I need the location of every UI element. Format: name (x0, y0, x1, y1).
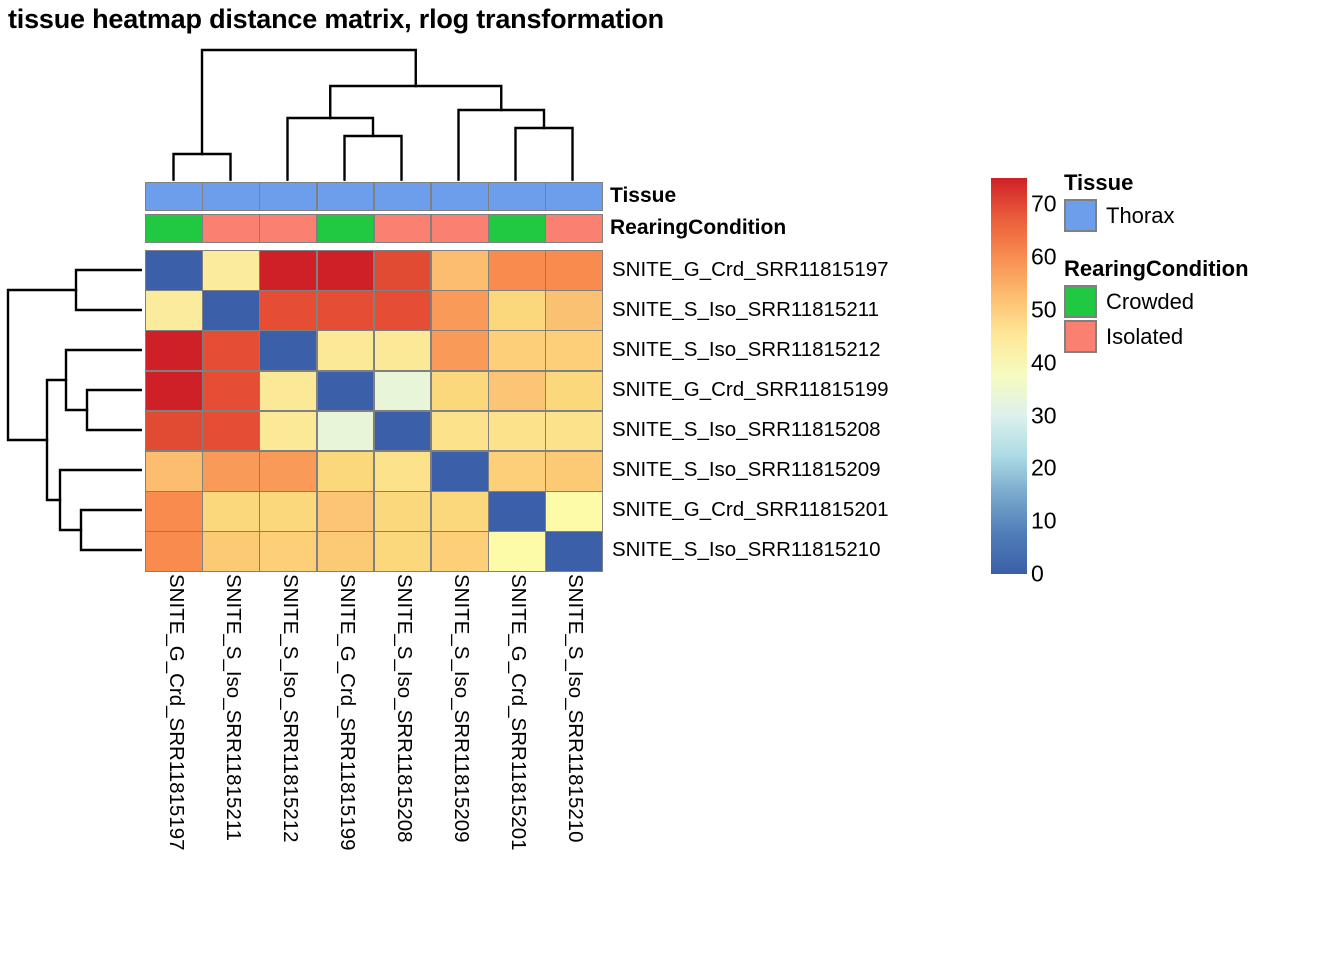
row-label: SNITE_S_Iso_SRR11815208 (612, 410, 1012, 450)
heatmap-cell (146, 251, 202, 290)
annotation-cell-rearingcondition (432, 215, 488, 242)
heatmap-cell (318, 291, 374, 330)
column-label-text: SNITE_S_Iso_SRR11815212 (277, 574, 301, 843)
row-label: SNITE_S_Iso_SRR11815211 (612, 290, 1012, 330)
heatmap-cell (375, 251, 431, 290)
annotation-cell-tissue (318, 183, 374, 210)
column-label: SNITE_S_Iso_SRR11815208 (373, 574, 430, 954)
column-label-text: SNITE_S_Iso_SRR11815209 (448, 574, 472, 843)
annotation-label-tissue: Tissue (610, 182, 676, 209)
legend-rearingcondition-label: Isolated (1106, 324, 1183, 350)
heatmap-cell (203, 291, 259, 330)
legend-title-rearingcondition: RearingCondition (1064, 256, 1344, 282)
column-label-list: SNITE_G_Crd_SRR11815197SNITE_S_Iso_SRR11… (145, 574, 601, 954)
heatmap-cell (489, 412, 545, 451)
column-label: SNITE_S_Iso_SRR11815209 (430, 574, 487, 954)
heatmap-cell (146, 331, 202, 370)
heatmap-cell (146, 412, 202, 451)
heatmap-cell (318, 372, 374, 411)
legend-rearingcondition-swatch (1064, 320, 1097, 353)
column-label: SNITE_G_Crd_SRR11815197 (145, 574, 202, 954)
heatmap-cell (546, 331, 602, 370)
heatmap-cell (432, 291, 488, 330)
heatmap-cell (318, 492, 374, 531)
heatmap-cell (375, 492, 431, 531)
colorbar-tick-label: 10 (1031, 508, 1057, 535)
column-label: SNITE_G_Crd_SRR11815199 (316, 574, 373, 954)
heatmap-cell (546, 251, 602, 290)
legend-items-tissue: Thorax (1064, 199, 1344, 232)
column-label-text: SNITE_G_Crd_SRR11815199 (334, 574, 358, 851)
column-label: SNITE_G_Crd_SRR11815201 (487, 574, 544, 954)
heatmap-cell (318, 532, 374, 571)
heatmap-cell (203, 412, 259, 451)
row-label-list: SNITE_G_Crd_SRR11815197SNITE_S_Iso_SRR11… (612, 250, 1012, 570)
heatmap-cell (260, 372, 316, 411)
annotation-label-rearingcondition: RearingCondition (610, 214, 786, 241)
heatmap-cell (146, 372, 202, 411)
annotation-cell-tissue (546, 183, 602, 210)
colorbar (991, 178, 1027, 574)
heatmap-grid (145, 250, 603, 572)
heatmap-cell (203, 452, 259, 491)
colorbar-tick-label: 60 (1031, 244, 1057, 271)
heatmap-cell (375, 412, 431, 451)
annotation-cell-tissue (203, 183, 259, 210)
annotation-cell-rearingcondition (489, 215, 545, 242)
column-dendrogram (145, 44, 601, 180)
heatmap-figure: tissue heatmap distance matrix, rlog tra… (0, 0, 1344, 960)
heatmap-cell (432, 372, 488, 411)
heatmap-cell (260, 251, 316, 290)
column-label: SNITE_S_Iso_SRR11815211 (202, 574, 259, 954)
page-title: tissue heatmap distance matrix, rlog tra… (8, 4, 664, 35)
column-tick-marks (145, 172, 601, 182)
annotation-cell-rearingcondition (318, 215, 374, 242)
heatmap-cell (318, 412, 374, 451)
heatmap-cell (146, 452, 202, 491)
legend-panel: Tissue Thorax RearingCondition CrowdedIs… (1064, 170, 1344, 355)
legend-tissue-label: Thorax (1106, 203, 1174, 229)
column-label-text: SNITE_S_Iso_SRR11815208 (391, 574, 415, 843)
heatmap-cell (375, 372, 431, 411)
row-label: SNITE_G_Crd_SRR11815199 (612, 370, 1012, 410)
heatmap-cell (203, 372, 259, 411)
heatmap-cell (546, 412, 602, 451)
heatmap-cell (546, 492, 602, 531)
heatmap-cell (375, 532, 431, 571)
heatmap-cell (375, 291, 431, 330)
colorbar-tick-label: 20 (1031, 455, 1057, 482)
heatmap-cell (546, 532, 602, 571)
heatmap-cell (546, 372, 602, 411)
row-label: SNITE_S_Iso_SRR11815209 (612, 450, 1012, 490)
heatmap-cell (260, 452, 316, 491)
heatmap-cell (318, 331, 374, 370)
colorbar-tick-label: 40 (1031, 349, 1057, 376)
heatmap-cell (375, 331, 431, 370)
row-label: SNITE_G_Crd_SRR11815201 (612, 490, 1012, 530)
heatmap-cell (260, 331, 316, 370)
annotation-cell-rearingcondition (546, 215, 602, 242)
heatmap-cell (203, 251, 259, 290)
legend-spacer (1064, 234, 1344, 256)
row-label: SNITE_S_Iso_SRR11815210 (612, 530, 1012, 570)
heatmap-cell (146, 532, 202, 571)
annotation-bar-rearingcondition (145, 214, 603, 243)
colorbar-tick-label: 30 (1031, 402, 1057, 429)
heatmap-cell (318, 452, 374, 491)
legend-rearingcondition-label: Crowded (1106, 289, 1194, 315)
heatmap-cell (489, 492, 545, 531)
annotation-cell-tissue (375, 183, 431, 210)
legend-rearingcondition-row: Isolated (1064, 320, 1344, 353)
heatmap-cell (260, 492, 316, 531)
heatmap-cell (432, 532, 488, 571)
legend-tissue-row: Thorax (1064, 199, 1344, 232)
colorbar-tick-label: 50 (1031, 296, 1057, 323)
legend-items-rearingcondition: CrowdedIsolated (1064, 285, 1344, 353)
heatmap-cell (489, 372, 545, 411)
heatmap-cell (489, 331, 545, 370)
heatmap-cell (375, 452, 431, 491)
column-label-text: SNITE_S_Iso_SRR11815211 (220, 574, 244, 841)
heatmap-cell (203, 331, 259, 370)
annotation-cell-tissue (146, 183, 202, 210)
heatmap-cell (489, 251, 545, 290)
row-dendrogram (2, 250, 142, 570)
heatmap-cell (432, 412, 488, 451)
column-label: SNITE_S_Iso_SRR11815210 (544, 574, 601, 954)
legend-tissue-swatch (1064, 199, 1097, 232)
row-label: SNITE_S_Iso_SRR11815212 (612, 330, 1012, 370)
legend-title-tissue: Tissue (1064, 170, 1344, 196)
heatmap-cell (489, 532, 545, 571)
annotation-cell-rearingcondition (146, 215, 202, 242)
heatmap-cell (489, 452, 545, 491)
heatmap-cell (260, 532, 316, 571)
annotation-cell-tissue (260, 183, 316, 210)
colorbar-gradient (991, 178, 1027, 574)
annotation-cell-rearingcondition (260, 215, 316, 242)
column-label: SNITE_S_Iso_SRR11815212 (259, 574, 316, 954)
heatmap-cell (203, 492, 259, 531)
legend-rearingcondition-swatch (1064, 285, 1097, 318)
colorbar-tick-label: 70 (1031, 191, 1057, 218)
annotation-cell-rearingcondition (203, 215, 259, 242)
heatmap-cell (146, 492, 202, 531)
heatmap-cell (546, 291, 602, 330)
annotation-cell-tissue (432, 183, 488, 210)
column-label-text: SNITE_G_Crd_SRR11815201 (505, 574, 529, 851)
heatmap-cell (432, 452, 488, 491)
legend-rearingcondition-row: Crowded (1064, 285, 1344, 318)
heatmap-cell (260, 291, 316, 330)
column-label-text: SNITE_S_Iso_SRR11815210 (562, 574, 586, 843)
heatmap-cell (318, 251, 374, 290)
annotation-bar-tissue (145, 182, 603, 211)
column-label-text: SNITE_G_Crd_SRR11815197 (163, 574, 187, 851)
heatmap-cell (146, 291, 202, 330)
colorbar-tick-label: 0 (1031, 561, 1044, 588)
heatmap-cell (260, 412, 316, 451)
heatmap-cell (432, 251, 488, 290)
heatmap-cell (432, 492, 488, 531)
heatmap-cell (489, 291, 545, 330)
annotation-cell-tissue (489, 183, 545, 210)
heatmap-cell (432, 331, 488, 370)
heatmap-cell (546, 452, 602, 491)
heatmap-cell (203, 532, 259, 571)
row-label: SNITE_G_Crd_SRR11815197 (612, 250, 1012, 290)
annotation-cell-rearingcondition (375, 215, 431, 242)
